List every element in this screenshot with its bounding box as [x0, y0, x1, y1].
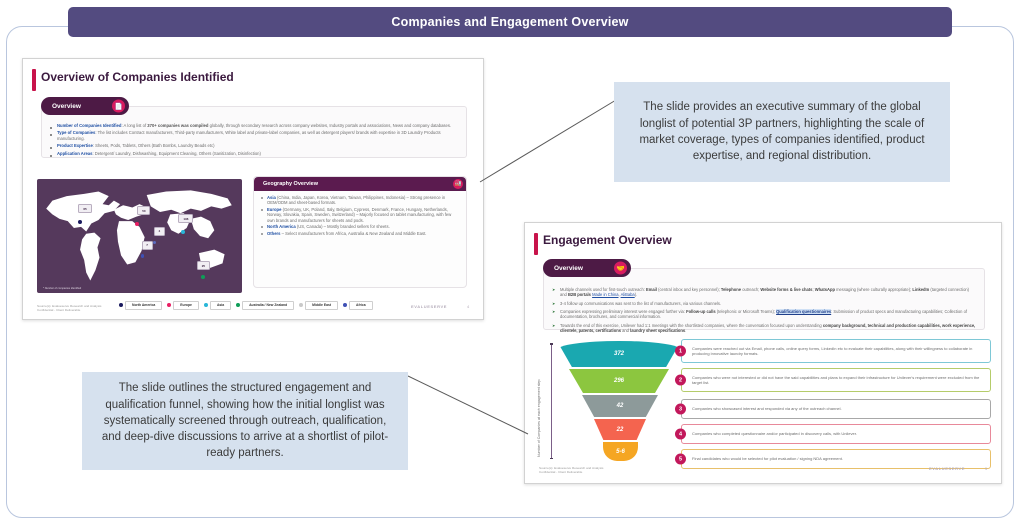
legend-label: Europe: [173, 301, 199, 310]
list-item: Application Areas: Detergent/ Laundry, D…: [50, 151, 458, 156]
geography-heading: Geography Overview: [263, 181, 318, 187]
funnel-stage: 372: [557, 341, 681, 367]
bullet-text: 3-4 follow up communications was sent to…: [560, 301, 721, 306]
bullet-text-b: globally, through secondary research acr…: [208, 123, 451, 128]
legend-item: Australia / New Zealand: [236, 301, 294, 310]
map-legend: North America Europe Asia Australia / Ne…: [119, 301, 373, 310]
bullet-strong: B2B portals: [568, 292, 591, 297]
bullet-strong: LinkedIn: [912, 287, 929, 292]
bullet-text: and: [621, 328, 630, 333]
funnel-stage-value: 42: [617, 403, 624, 409]
list-item: Europe (Germany, UK, Poland, Italy, Belg…: [260, 207, 458, 223]
bullet-strong: Email: [646, 287, 657, 292]
geo-text: (Germany, UK, Poland, Italy, Belgium, Cy…: [267, 207, 451, 223]
bullet-highlight: Qualification questionnaires: [776, 309, 831, 314]
page-banner: Companies and Engagement Overview: [68, 7, 952, 37]
slide2-confidential-line: Confidential - Client Deliverable: [539, 470, 603, 474]
list-item: Number of Companies Identified: A long l…: [50, 123, 458, 128]
bullet-text: ).: [635, 292, 638, 297]
factory-icon: 🏭: [453, 179, 463, 189]
geo-text: – Select manufacturers from Africa, Aust…: [281, 231, 427, 236]
connector-bottom: [406, 372, 530, 436]
funnel-stage: 5-6: [603, 442, 638, 461]
funnel-stage-value: 5-6: [616, 449, 625, 455]
list-item: Towards the end of this exercise, Unilev…: [552, 323, 976, 334]
list-item: Asia (China, India, Japan, Korea, Vietna…: [260, 195, 458, 206]
slide2-pill-label: Overview: [554, 265, 583, 272]
legend-item: Europe: [167, 301, 199, 310]
list-item: Others – Select manufacturers from Afric…: [260, 231, 458, 236]
step-number-badge: 5: [675, 454, 686, 465]
callout-bottom-text: The slide outlines the structured engage…: [94, 380, 396, 462]
world-map[interactable]: 65 50 196 4 7 25 * Number of companies i…: [37, 179, 242, 293]
callout-top: The slide provides an executive summary …: [614, 82, 950, 182]
funnel-stage: 22: [594, 419, 646, 440]
list-item: Type of Companies: The list includes Con…: [50, 130, 458, 141]
slide2-accent-bar: [534, 233, 538, 255]
funnel-axis-line: [551, 343, 552, 459]
step-text: Companies who showcased interest and res…: [692, 406, 842, 411]
bullet-text: Companies expressing preliminary interes…: [560, 309, 686, 314]
bullet-text: Towards the end of this exercise, Unilev…: [560, 323, 823, 328]
slide1-overview-pill[interactable]: Overview 📄: [41, 97, 129, 115]
step-text: Final candidates who would be selected f…: [692, 456, 843, 461]
bullet-strong: Follow-up calls: [686, 309, 716, 314]
legend-dot: [343, 303, 347, 307]
slide1-accent-bar: [32, 69, 36, 91]
map-dot: [78, 220, 82, 224]
list-item: Multiple channels used for first-touch o…: [552, 287, 976, 298]
funnel-step[interactable]: 4 Companies who completed questionnaire …: [675, 424, 991, 444]
step-text-box: Companies who were not interested or did…: [681, 368, 991, 392]
geography-header: Geography Overview 🏭: [254, 177, 466, 191]
map-marker-label: 65: [83, 207, 86, 211]
handshake-icon: 🤝: [614, 262, 627, 275]
slide1-confidential-line: Confidential - Client Deliverable: [37, 308, 101, 312]
bullet-key: Application Areas: [57, 151, 92, 156]
connector-top: [478, 96, 618, 184]
legend-item: Africa: [343, 301, 373, 310]
list-item: North America (US, Canada) – Mostly bran…: [260, 224, 458, 229]
bullet-link[interactable]: Made in China: [592, 292, 618, 297]
geo-key: Others: [267, 231, 281, 236]
slide1-page-number: 4: [467, 304, 469, 309]
legend-dot: [167, 303, 171, 307]
legend-label: Africa: [349, 301, 373, 310]
map-marker: 50: [137, 206, 150, 215]
slide1-title: Overview of Companies Identified: [41, 70, 234, 84]
legend-item: Asia: [204, 301, 231, 310]
slide2-brand: EVALUESERVE: [929, 466, 965, 471]
slide2-source: Source(s): Evalueserve Research and Anal…: [539, 466, 603, 474]
legend-label: Australia / New Zealand: [242, 301, 294, 310]
slide-engagement-overview[interactable]: Engagement Overview Overview 🤝 Multiple …: [524, 222, 1002, 484]
bullet-strong: WhatsApp: [815, 287, 835, 292]
screenshot-root: Companies and Engagement Overview Overvi…: [0, 0, 1024, 530]
list-item: 3-4 follow up communications was sent to…: [552, 301, 976, 306]
legend-label: Middle East: [305, 301, 338, 310]
slide1-brand: EVALUESERVE: [411, 304, 447, 309]
legend-dot: [119, 303, 123, 307]
slide2-overview-pill[interactable]: Overview 🤝: [543, 259, 631, 277]
map-footnote: * Number of companies identified: [43, 287, 81, 290]
step-text: Companies who were not interested or did…: [692, 375, 986, 385]
geography-overview-card[interactable]: Geography Overview 🏭 Asia (China, India,…: [253, 176, 467, 288]
legend-label: Asia: [210, 301, 231, 310]
map-marker-label: 50: [142, 209, 145, 213]
bullet-text-a: : The list includes Contract manufacture…: [57, 130, 441, 140]
bullet-text: messaging (where culturally appropriate)…: [835, 287, 912, 292]
bullet-link[interactable]: AliBaba: [621, 292, 635, 297]
bullet-strong: laundry sheet specifications: [630, 328, 685, 333]
step-text-box: Companies who showcased interest and res…: [681, 399, 991, 419]
list-item: Companies expressing preliminary interes…: [552, 309, 976, 320]
step-text-box: Companies who completed questionnaire an…: [681, 424, 991, 444]
slide1-bullet-list: Number of Companies Identified: A long l…: [50, 123, 458, 156]
map-marker-label: 196: [183, 217, 188, 221]
map-marker-label: 25: [202, 264, 205, 268]
slide-companies-identified[interactable]: Overview of Companies Identified Overvie…: [22, 58, 484, 320]
map-marker-label: 4: [159, 229, 161, 233]
legend-dot: [204, 303, 208, 307]
slide1-pill-label: Overview: [52, 103, 81, 110]
step-number-badge: 3: [675, 404, 686, 415]
slide1-source: Source(s): Evalueserve Research and Anal…: [37, 304, 101, 312]
legend-dot: [299, 303, 303, 307]
bullet-text: .: [685, 328, 686, 333]
bullet-key: Type of Companies: [57, 130, 95, 135]
list-item: Product Expertise: Sheets, Pods, Tablets…: [50, 143, 458, 148]
bullet-text: (telephonic or Microsoft Teams);: [716, 309, 776, 314]
slide2-title: Engagement Overview: [543, 233, 672, 247]
legend-item: North America: [119, 301, 162, 310]
map-marker: 25: [197, 261, 210, 270]
step-text-box: Companies were reached out via Email, ph…: [681, 339, 991, 363]
funnel-axis-label: Number of Companies at each engagement s…: [537, 345, 541, 457]
step-number-badge: 1: [675, 346, 686, 357]
bullet-strong: 370+ companies was compiled: [147, 123, 208, 128]
engagement-funnel[interactable]: Number of Companies at each engagement s…: [535, 339, 685, 465]
bullet-text: outreach;: [741, 287, 760, 292]
legend-label: North America: [125, 301, 162, 310]
step-text: Companies were reached out via Email, ph…: [692, 346, 986, 356]
funnel-stage-value: 296: [614, 378, 624, 384]
funnel-stage-value: 372: [614, 351, 624, 357]
geo-text: (China, India, Japan, Korea, Vietnam, Ta…: [267, 195, 445, 205]
step-number-badge: 4: [675, 429, 686, 440]
map-marker: 4: [154, 227, 165, 236]
step-text: Companies who completed questionnaire an…: [692, 431, 857, 436]
callout-top-text: The slide provides an executive summary …: [626, 99, 938, 164]
bullet-strong: Website forms & live chats: [760, 287, 812, 292]
geo-text: (US, Canada) – Mostly branded sellers fo…: [296, 224, 390, 229]
geo-key: Asia: [267, 195, 276, 200]
map-marker: 65: [78, 204, 92, 213]
slide2-page-number: 5: [985, 466, 987, 471]
funnel-stage: 42: [582, 395, 658, 417]
legend-dot: [236, 303, 240, 307]
funnel-stage-value: 22: [617, 427, 624, 433]
geo-key: North America: [267, 224, 296, 229]
bullet-text-a: : A long list of: [121, 123, 147, 128]
bullet-text-a: : Detergent/ Laundry, Dishwashing, Equip…: [92, 151, 260, 156]
bullet-key: Number of Companies Identified: [57, 123, 121, 128]
geography-list: Asia (China, India, Japan, Korea, Vietna…: [254, 195, 466, 236]
map-marker: 196: [178, 214, 193, 223]
bullet-text: (central inbox and key personnel);: [657, 287, 721, 292]
funnel-step[interactable]: 1 Companies were reached out via Email, …: [675, 339, 991, 363]
slide2-bullet-list: Multiple channels used for first-touch o…: [552, 287, 976, 333]
page-title: Companies and Engagement Overview: [391, 15, 628, 29]
funnel-step[interactable]: 3 Companies who showcased interest and r…: [675, 399, 991, 419]
bullet-text: Multiple channels used for first-touch o…: [560, 287, 646, 292]
world-map-shapes: [37, 179, 242, 293]
map-dot: [141, 254, 145, 258]
bullet-text-a: : Sheets, Pods, Tablets, Others (Bath Bo…: [93, 143, 215, 148]
funnel-step[interactable]: 2 Companies who were not interested or d…: [675, 368, 991, 392]
slide2-overview-panel: Multiple channels used for first-touch o…: [543, 268, 985, 330]
map-marker-label: 7: [146, 243, 148, 247]
map-dot: [201, 275, 205, 279]
bullet-key: Product Expertise: [57, 143, 93, 148]
step-number-badge: 2: [675, 375, 686, 386]
funnel-stage: 296: [569, 369, 669, 393]
bullet-strong: Telephone: [721, 287, 741, 292]
map-marker: 7: [142, 241, 153, 250]
geo-key: Europe: [267, 207, 281, 212]
document-icon: 📄: [112, 100, 125, 113]
legend-item: Middle East: [299, 301, 338, 310]
map-dot: [181, 230, 185, 234]
callout-bottom: The slide outlines the structured engage…: [82, 372, 408, 470]
